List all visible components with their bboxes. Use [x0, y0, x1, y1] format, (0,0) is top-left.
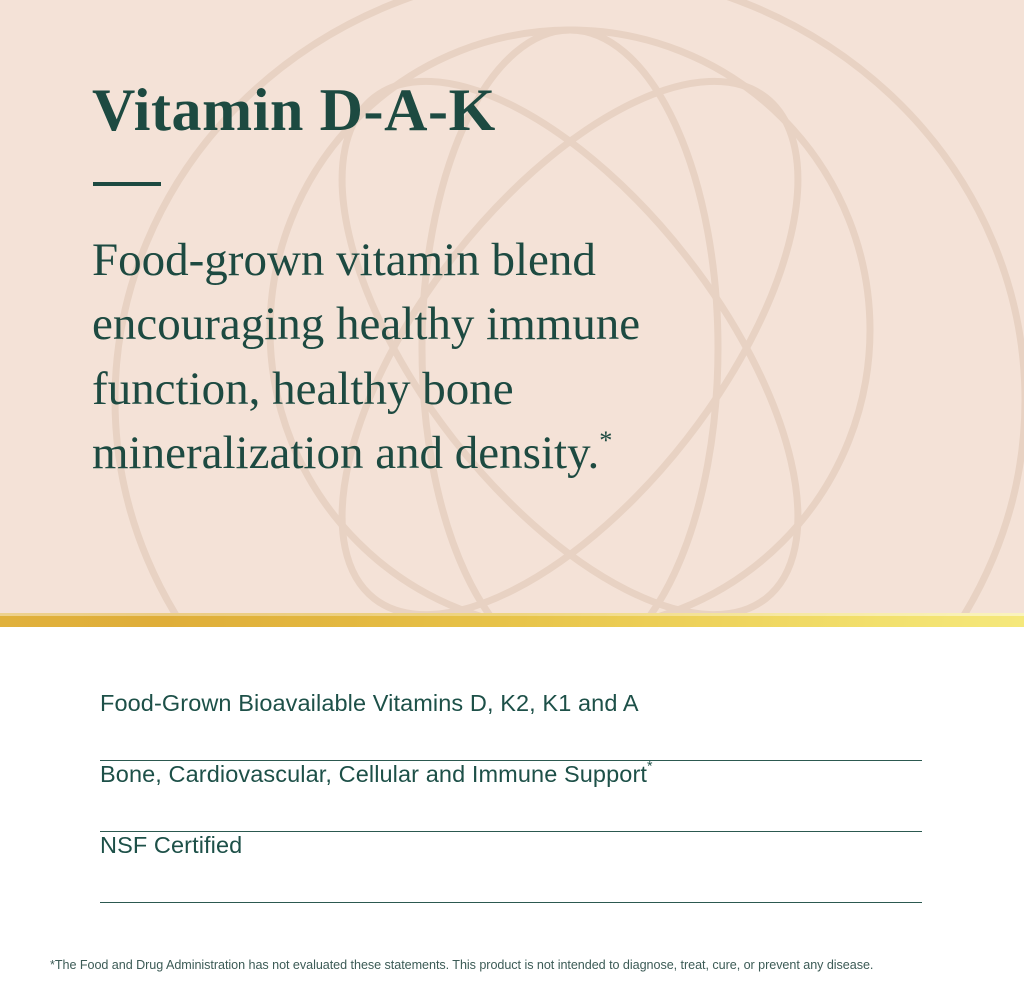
product-tagline: Food-grown vitamin blend encouraging hea… — [92, 228, 752, 486]
feature-label-text: NSF Certified — [100, 832, 242, 858]
feature-label-text: Bone, Cardiovascular, Cellular and Immun… — [100, 761, 647, 787]
hero-content: Vitamin D-A-K Food-grown vitamin blend e… — [92, 0, 792, 613]
feature-label: Bone, Cardiovascular, Cellular and Immun… — [100, 761, 653, 788]
feature-list: Food-Grown Bioavailable Vitamins D, K2, … — [100, 690, 922, 903]
product-tagline-text: Food-grown vitamin blend encouraging hea… — [92, 234, 640, 479]
list-item: NSF Certified — [100, 832, 922, 903]
feature-asterisk: * — [647, 757, 653, 773]
fda-disclaimer: *The Food and Drug Administration has no… — [50, 958, 980, 972]
hero-panel: Vitamin D-A-K Food-grown vitamin blend e… — [0, 0, 1024, 613]
product-info-graphic: Vitamin D-A-K Food-grown vitamin blend e… — [0, 0, 1024, 981]
title-underline-rule — [93, 182, 161, 186]
list-item: Bone, Cardiovascular, Cellular and Immun… — [100, 761, 922, 832]
gold-divider-bar — [0, 613, 1024, 627]
list-item: Food-Grown Bioavailable Vitamins D, K2, … — [100, 690, 922, 761]
page-title: Vitamin D-A-K — [92, 78, 496, 143]
feature-label: Food-Grown Bioavailable Vitamins D, K2, … — [100, 690, 639, 717]
tagline-asterisk: * — [599, 426, 612, 455]
feature-label: NSF Certified — [100, 832, 242, 859]
feature-label-text: Food-Grown Bioavailable Vitamins D, K2, … — [100, 690, 639, 716]
